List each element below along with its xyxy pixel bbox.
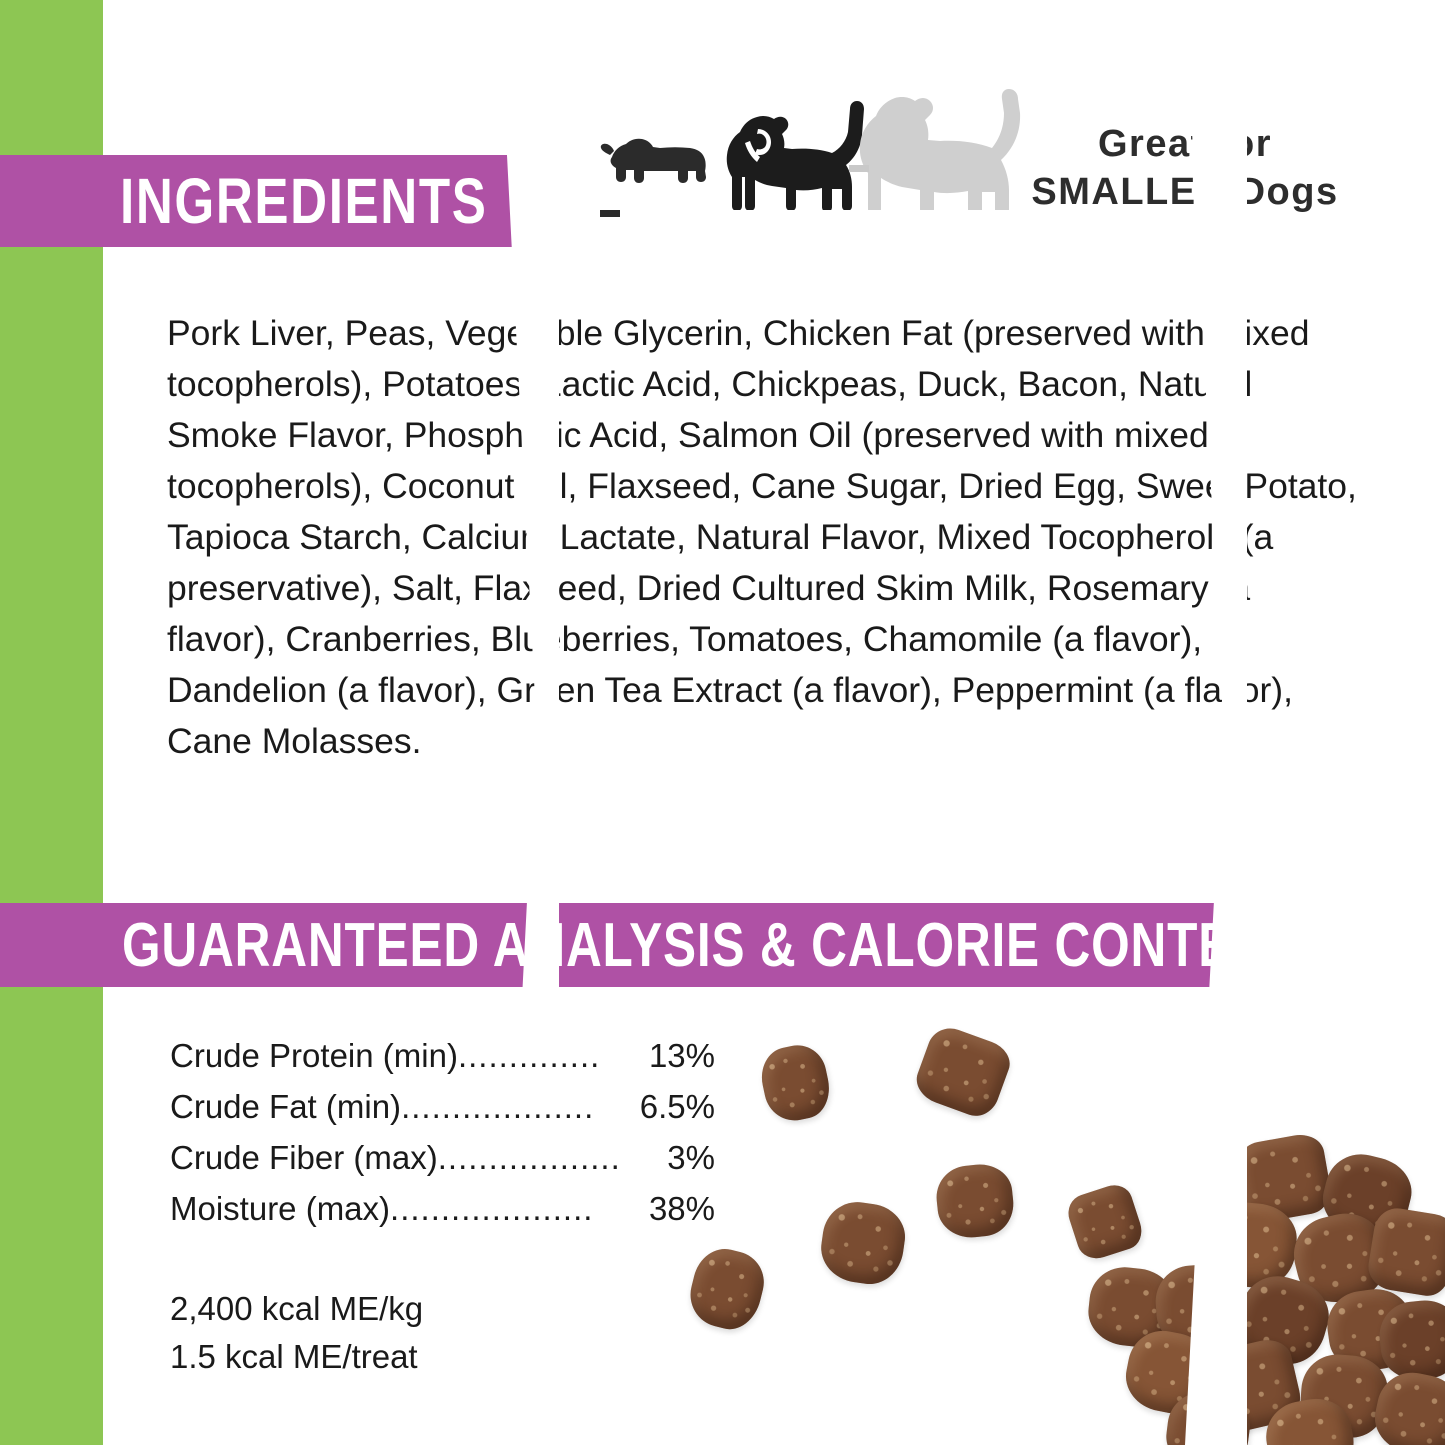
large-dog-hound-icon (860, 89, 1020, 210)
analysis-dot-leader: .................... (390, 1183, 649, 1234)
analysis-dot-leader: .................. (438, 1132, 668, 1183)
analysis-dot-leader: ................... (401, 1081, 640, 1132)
analysis-nutrient-value: 6.5% (640, 1081, 715, 1132)
analysis-dot-leader: .............. (458, 1030, 649, 1081)
size-callout-line-2: SMALLER Dogs (1015, 168, 1355, 216)
treat-piece (684, 1243, 771, 1336)
analysis-nutrient-name: Crude Protein (min) (170, 1030, 458, 1081)
ingredients-banner: INGREDIENTS (0, 155, 555, 247)
guaranteed-analysis-banner-label: GUARANTEED ANALYSIS & CALORIE CONTENT (122, 910, 1300, 981)
size-callout: Great for SMALLER Dogs (1015, 120, 1355, 216)
analysis-nutrient-value: 38% (649, 1183, 715, 1234)
treat-piece (817, 1198, 909, 1289)
guaranteed-analysis-table: Crude Protein (min)..............13%Crud… (170, 1030, 715, 1234)
small-dog-dachshund-icon (601, 139, 706, 183)
treat-piece (1286, 1205, 1394, 1310)
treat-piece (1369, 1366, 1445, 1445)
analysis-nutrient-name: Crude Fat (min) (170, 1081, 401, 1132)
ingredients-banner-label: INGREDIENTS (120, 164, 488, 238)
treat-piece (933, 1161, 1016, 1241)
analysis-nutrient-value: 3% (667, 1132, 715, 1183)
treat-piece (1365, 1205, 1445, 1299)
analysis-nutrient-name: Moisture (max) (170, 1183, 390, 1234)
treat-piece (1063, 1180, 1146, 1263)
calorie-content-block: 2,400 kcal ME/kg1.5 kcal ME/treat (170, 1285, 423, 1381)
medium-dog-beagle-icon (727, 101, 864, 210)
guaranteed-analysis-row: Moisture (max)....................38% (170, 1183, 715, 1234)
analysis-nutrient-value: 13% (649, 1030, 715, 1081)
packaging-info-panel: INGREDIENTS Great for SMALLER (0, 0, 1445, 1445)
treat-piece (1085, 1264, 1177, 1350)
treat-piece (1323, 1285, 1417, 1376)
size-separator-dash-1 (600, 210, 620, 217)
treat-piece (1316, 1147, 1419, 1245)
guaranteed-analysis-row: Crude Protein (min)..............13% (170, 1030, 715, 1081)
calorie-line: 1.5 kcal ME/treat (170, 1333, 423, 1381)
calorie-line: 2,400 kcal ME/kg (170, 1285, 423, 1333)
treat-piece (911, 1022, 1016, 1122)
treat-piece (1260, 1393, 1360, 1445)
guaranteed-analysis-row: Crude Fiber (max)..................3% (170, 1132, 715, 1183)
dog-size-comparison-graphic (600, 85, 1030, 210)
treat-piece (1298, 1352, 1390, 1440)
analysis-nutrient-name: Crude Fiber (max) (170, 1132, 438, 1183)
treat-piece (1376, 1297, 1445, 1383)
treat-piece (756, 1040, 835, 1126)
ingredients-list-text: Pork Liver, Peas, Vegetable Glycerin, Ch… (167, 308, 1367, 767)
guaranteed-analysis-banner: GUARANTEED ANALYSIS & CALORIE CONTENT (0, 903, 1245, 987)
treat-piece (1234, 1131, 1335, 1225)
guaranteed-analysis-row: Crude Fat (min)...................6.5% (170, 1081, 715, 1132)
size-separator-dash-2 (849, 165, 869, 172)
